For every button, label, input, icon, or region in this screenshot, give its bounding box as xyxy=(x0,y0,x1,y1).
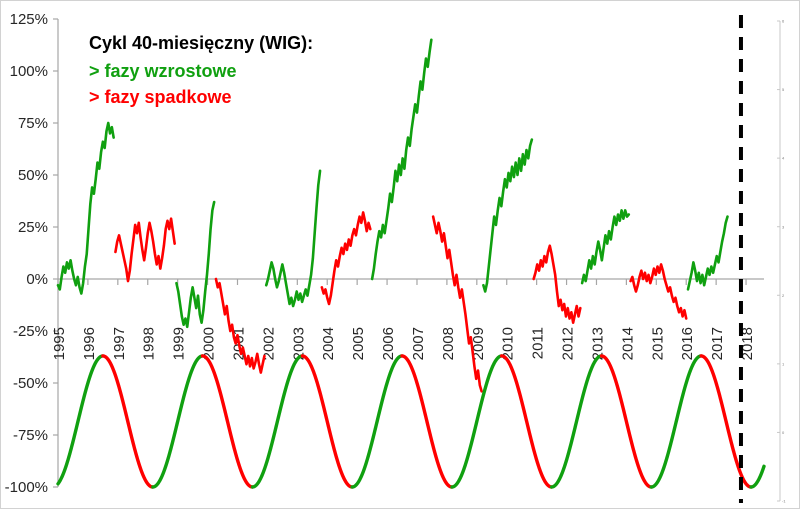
cycle-model-falling-line xyxy=(302,356,352,487)
wig-rising-phase-line xyxy=(58,123,114,294)
cycle-model-rising-line xyxy=(651,356,701,487)
x-axis-tick-label: 2017 xyxy=(709,327,726,360)
x-axis-tick-label: 2015 xyxy=(649,327,666,360)
y-axis-tick-label: -75% xyxy=(13,427,48,444)
y-axis-tick-label: 75% xyxy=(18,115,48,132)
secondary-y-axis-tick-label: 4 xyxy=(782,156,785,161)
cycle-model-falling-line xyxy=(103,356,153,487)
wig-falling-phase-line xyxy=(115,219,174,281)
x-axis-tick-label: 2005 xyxy=(350,327,367,360)
wig-falling-phase-line xyxy=(433,217,481,392)
secondary-y-axis-tick-label: -1 xyxy=(782,499,786,504)
wig-rising-phase-line xyxy=(582,210,629,283)
x-axis-tick-label: 1998 xyxy=(141,327,158,360)
x-axis-tick-label: 1997 xyxy=(111,327,128,360)
x-axis-tick-label: 1995 xyxy=(51,327,68,360)
x-axis-tick-label: 2014 xyxy=(619,327,636,360)
x-axis-tick-label: 2007 xyxy=(410,327,427,360)
y-axis-tick-label: 50% xyxy=(18,167,48,184)
chart-frame: 125%100%75%50%25%0%-25%-50%-75%-100%1995… xyxy=(0,0,800,509)
cycle-model-rising-line xyxy=(58,356,103,484)
cycle-model-falling-line xyxy=(701,356,751,487)
cycle-model-rising-line xyxy=(352,356,402,487)
cycle-model-rising-line xyxy=(153,356,203,487)
cycle-model-falling-line xyxy=(402,356,452,487)
cycle-chart: 125%100%75%50%25%0%-25%-50%-75%-100%1995… xyxy=(1,1,800,510)
x-axis-tick-label: 2008 xyxy=(440,327,457,360)
secondary-y-axis-tick-label: 0 xyxy=(782,430,785,435)
wig-falling-phase-line xyxy=(631,264,687,318)
secondary-y-axis-tick-label: 2 xyxy=(782,293,785,298)
secondary-y-axis-tick-label: 3 xyxy=(782,224,785,229)
wig-falling-phase-line xyxy=(322,212,370,304)
wig-rising-phase-line xyxy=(176,202,214,327)
x-axis-tick-label: 1999 xyxy=(171,327,188,360)
y-axis-tick-label: 0% xyxy=(26,271,48,288)
y-axis-tick-label: 100% xyxy=(10,63,48,80)
wig-falling-phase-line xyxy=(534,246,581,323)
cycle-model-falling-line xyxy=(202,356,252,487)
y-axis-tick-label: -50% xyxy=(13,375,48,392)
x-axis-tick-label: 2002 xyxy=(260,327,277,360)
y-axis-tick-label: -100% xyxy=(5,479,48,496)
x-axis-tick-label: 2006 xyxy=(380,327,397,360)
x-axis-tick-label: 2004 xyxy=(320,327,337,360)
x-axis-tick-label: 2016 xyxy=(679,327,696,360)
y-axis-tick-label: 25% xyxy=(18,219,48,236)
cycle-model-rising-line xyxy=(751,466,764,487)
wig-rising-phase-line xyxy=(372,40,431,279)
cycle-model-falling-line xyxy=(602,356,652,487)
x-axis-tick-label: 1996 xyxy=(81,327,98,360)
x-axis-tick-label: 2011 xyxy=(530,327,547,359)
x-axis-tick-label: 2012 xyxy=(560,327,577,360)
cycle-model-falling-line xyxy=(502,356,552,487)
cycle-model-rising-line xyxy=(552,356,602,487)
secondary-y-axis-tick-label: 5 xyxy=(782,87,785,92)
wig-rising-phase-line xyxy=(483,140,531,292)
secondary-y-axis-tick-label: 6 xyxy=(782,19,785,24)
cycle-model-rising-line xyxy=(252,356,302,487)
secondary-y-axis-tick-label: 1 xyxy=(782,361,785,366)
y-axis-tick-label: -25% xyxy=(13,323,48,340)
wig-rising-phase-line xyxy=(266,171,320,306)
y-axis-tick-label: 125% xyxy=(10,11,48,28)
